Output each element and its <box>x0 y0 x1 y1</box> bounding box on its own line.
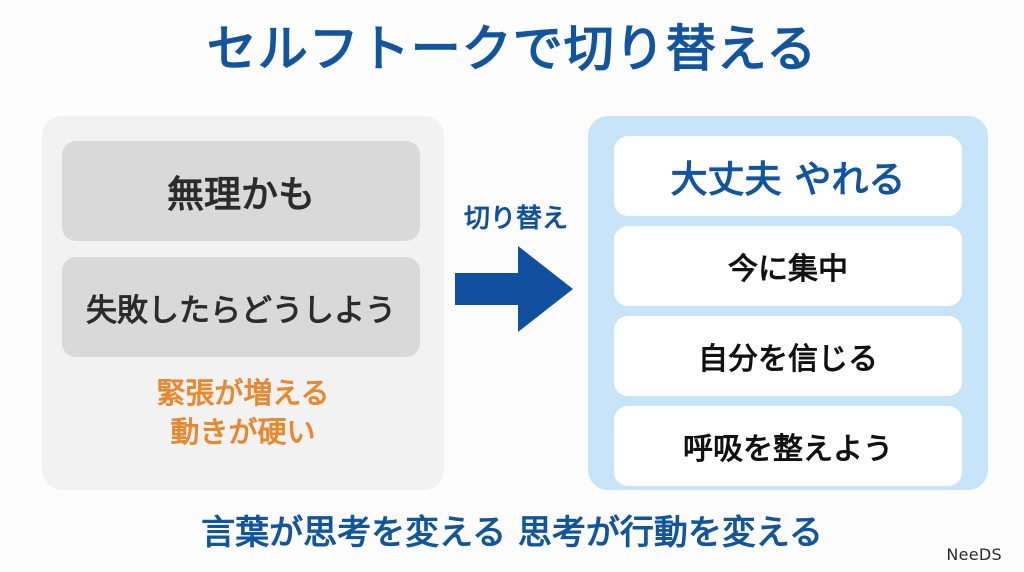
positive-statement-box: 今に集中 <box>614 226 962 306</box>
page-title: セルフトークで切り替える <box>0 22 1024 77</box>
arrow-right-icon <box>455 246 573 332</box>
slide-caption: 言葉が思考を変える 思考が行動を変える <box>0 505 1024 554</box>
positive-self-talk-panel: 大丈夫 やれる 今に集中 自分を信じる 呼吸を整えよう <box>588 116 988 490</box>
switch-label: 切り替え <box>447 198 585 235</box>
negative-self-talk-panel: 無理かも 失敗したらどうしよう 緊張が増える 動きが硬い <box>42 116 444 490</box>
positive-statement-box: 呼吸を整えよう <box>614 406 962 486</box>
negative-consequence-line: 緊張が増える <box>42 374 444 413</box>
positive-statement-box: 自分を信じる <box>614 316 962 396</box>
negative-consequences: 緊張が増える 動きが硬い <box>42 374 444 452</box>
negative-thought-box: 無理かも <box>62 141 420 241</box>
positive-statement-box: 大丈夫 やれる <box>614 136 962 216</box>
watermark: NeeDS <box>946 545 1002 564</box>
negative-thought-box: 失敗したらどうしよう <box>62 257 420 357</box>
negative-consequence-line: 動きが硬い <box>42 413 444 452</box>
slide-canvas: セルフトークで切り替える 無理かも 失敗したらどうしよう 緊張が増える 動きが硬… <box>0 0 1024 572</box>
